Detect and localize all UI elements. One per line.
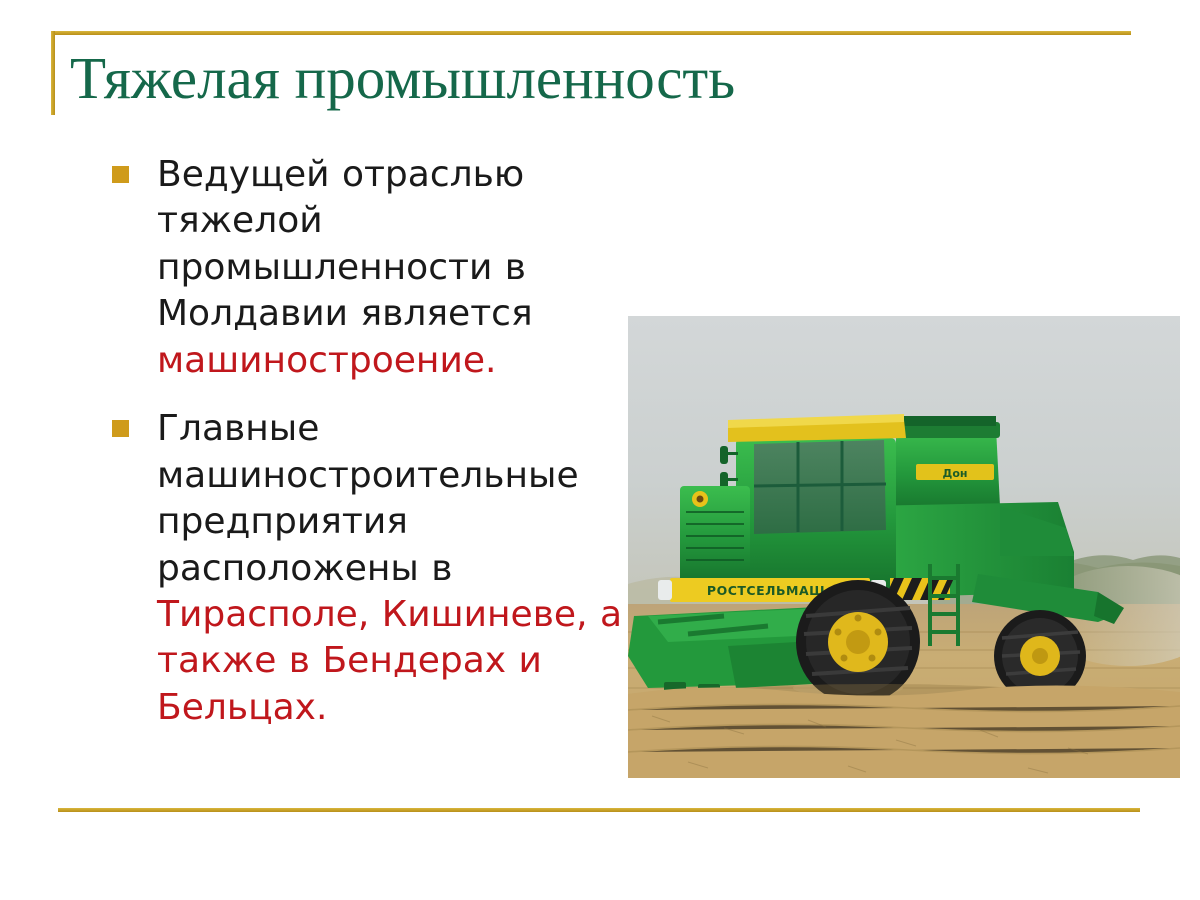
top-accent-rule <box>51 31 1131 35</box>
bullet-line-highlight: Тирасполе, <box>157 594 369 635</box>
bullet-line: Главные <box>157 408 319 449</box>
bullet-line: тяжелой <box>157 200 323 241</box>
bullet-list: Ведущей отраслью тяжелой промышленности … <box>112 152 642 747</box>
bullet-line: Ведущей отраслью <box>157 154 524 195</box>
bullet-text-1: Ведущей отраслью тяжелой промышленности … <box>157 152 642 384</box>
bullet-line: Молдавии является <box>157 293 533 334</box>
list-item: Ведущей отраслью тяжелой промышленности … <box>112 152 642 384</box>
bullet-text-2: Главные машиностроительные предприятия р… <box>157 406 642 731</box>
harvester-photo: Дон <box>628 316 1180 778</box>
svg-text:РОСТСЕЛЬМАШ: РОСТСЕЛЬМАШ <box>707 583 825 598</box>
bullet-line: предприятия <box>157 501 408 542</box>
harvester-illustration: Дон <box>628 316 1180 778</box>
square-bullet-icon <box>112 166 129 183</box>
slide-canvas: Тяжелая промышленность Ведущей отраслью … <box>0 0 1200 900</box>
list-item: Главные машиностроительные предприятия р… <box>112 406 642 731</box>
page-title: Тяжелая промышленность <box>70 48 1120 110</box>
bottom-accent-rule <box>58 808 1140 812</box>
bullet-line: промышленности в <box>157 247 526 288</box>
bullet-line: машиностроительные <box>157 455 579 496</box>
left-accent-rule <box>51 31 55 115</box>
bullet-line: расположены в <box>157 548 453 589</box>
svg-text:Дон: Дон <box>943 467 968 480</box>
bullet-line-highlight: машиностроение. <box>157 340 496 381</box>
square-bullet-icon <box>112 420 129 437</box>
